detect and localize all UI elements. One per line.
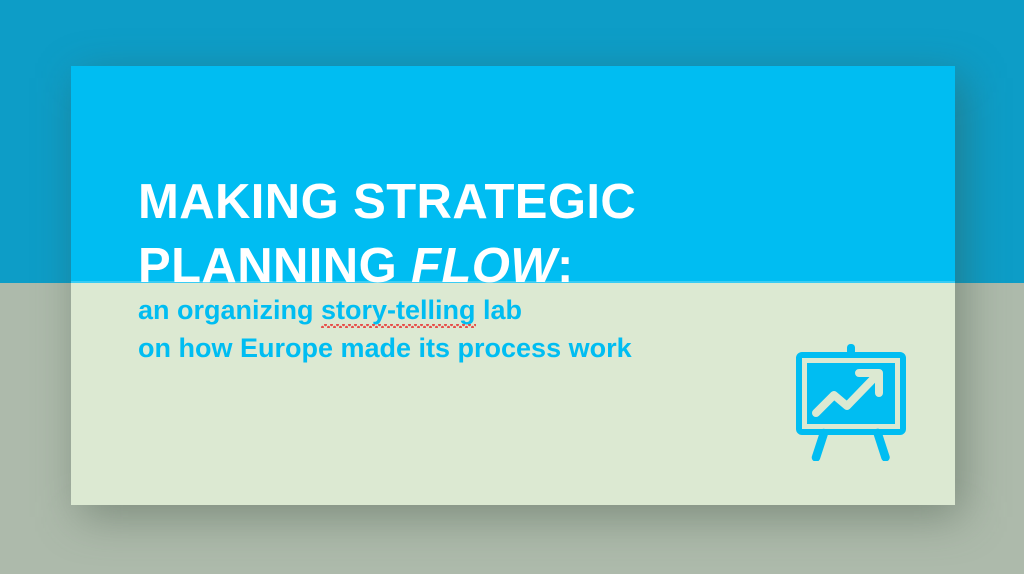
spellcheck-misspelled-word[interactable]: story-telling [321,295,476,325]
subtitle-text-before-error: an organizing [138,295,321,325]
slide-subtitle-line-2: on how Europe made its process work [138,329,838,367]
slide-subtitle-line-1: an organizing story-telling lab [138,291,838,329]
slide-title-line-1: MAKING STRATEGIC [138,175,636,229]
subtitle-text-after-error: lab [476,295,523,325]
slide-card[interactable]: MAKING STRATEGICPLANNING FLOW: an organi… [71,66,955,505]
slide-title-emphasis: FLOW [411,239,557,293]
chart-easel-icon [789,337,913,461]
slide-title-line-2-prefix: PLANNING [138,239,411,293]
slide-title[interactable]: MAKING STRATEGICPLANNING FLOW: [138,170,898,298]
slide-title-line-2-suffix: : [557,239,574,293]
slide-subtitle[interactable]: an organizing story-telling lab on how E… [138,291,838,367]
